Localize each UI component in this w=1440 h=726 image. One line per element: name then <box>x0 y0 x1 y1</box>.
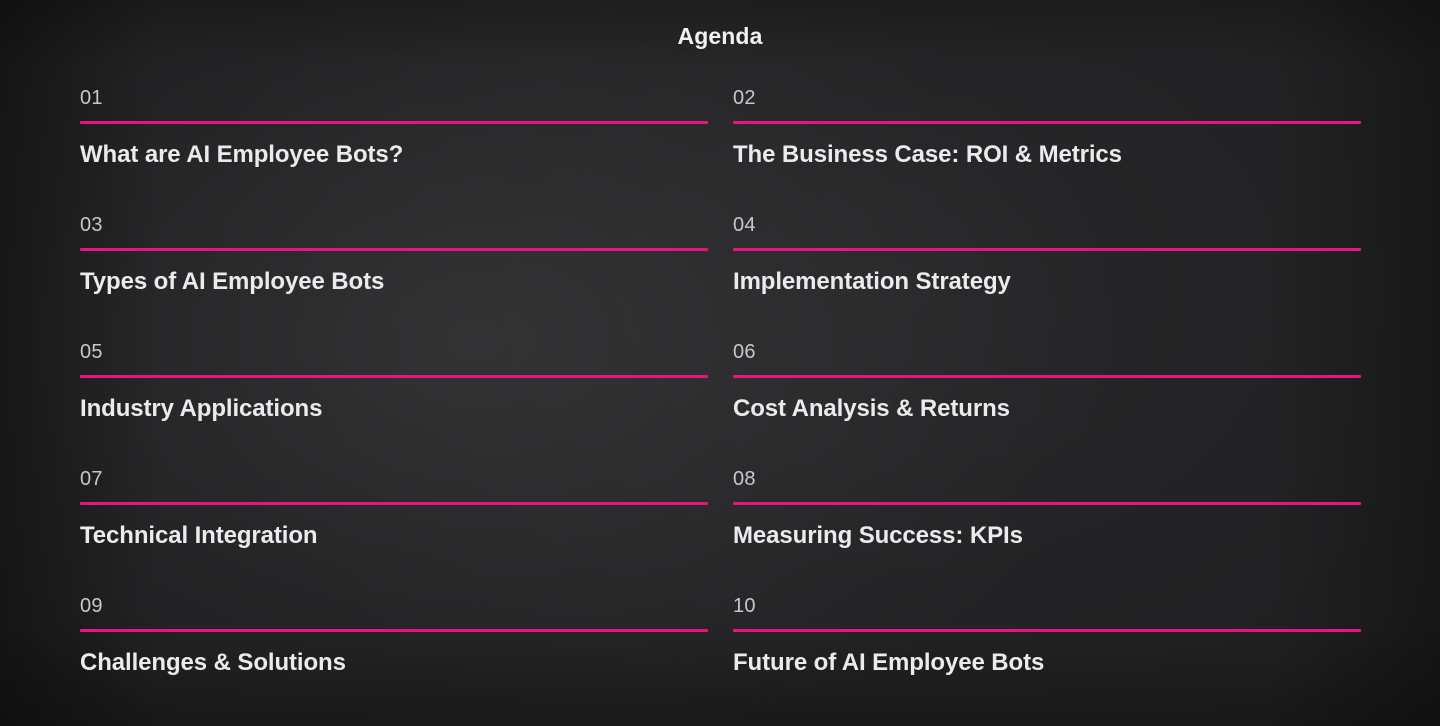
agenda-item-number: 07 <box>80 469 708 502</box>
agenda-item-06[interactable]: 06 Cost Analysis & Returns <box>733 339 1361 466</box>
agenda-item-02[interactable]: 02 The Business Case: ROI & Metrics <box>733 85 1361 212</box>
agenda-item-number: 03 <box>80 215 708 248</box>
agenda-item-number: 05 <box>80 342 708 375</box>
agenda-item-title: Implementation Strategy <box>733 251 1361 295</box>
agenda-item-title: What are AI Employee Bots? <box>80 124 708 168</box>
agenda-slide: Agenda 01 What are AI Employee Bots? 02 … <box>0 0 1440 726</box>
page-title: Agenda <box>0 0 1440 50</box>
agenda-item-07[interactable]: 07 Technical Integration <box>80 466 708 593</box>
agenda-item-title: The Business Case: ROI & Metrics <box>733 124 1361 168</box>
agenda-item-01[interactable]: 01 What are AI Employee Bots? <box>80 85 708 212</box>
agenda-item-title: Industry Applications <box>80 378 708 422</box>
agenda-item-10[interactable]: 10 Future of AI Employee Bots <box>733 593 1361 720</box>
agenda-item-number: 01 <box>80 88 708 121</box>
agenda-item-title: Future of AI Employee Bots <box>733 632 1361 676</box>
agenda-item-title: Cost Analysis & Returns <box>733 378 1361 422</box>
agenda-list: 01 What are AI Employee Bots? 02 The Bus… <box>0 85 1440 720</box>
agenda-item-title: Challenges & Solutions <box>80 632 708 676</box>
agenda-item-number: 06 <box>733 342 1361 375</box>
agenda-item-number: 10 <box>733 596 1361 629</box>
agenda-item-title: Measuring Success: KPIs <box>733 505 1361 549</box>
agenda-item-number: 02 <box>733 88 1361 121</box>
agenda-item-number: 08 <box>733 469 1361 502</box>
agenda-item-number: 09 <box>80 596 708 629</box>
agenda-item-09[interactable]: 09 Challenges & Solutions <box>80 593 708 720</box>
agenda-item-title: Technical Integration <box>80 505 708 549</box>
agenda-item-05[interactable]: 05 Industry Applications <box>80 339 708 466</box>
agenda-item-03[interactable]: 03 Types of AI Employee Bots <box>80 212 708 339</box>
agenda-item-08[interactable]: 08 Measuring Success: KPIs <box>733 466 1361 593</box>
agenda-item-title: Types of AI Employee Bots <box>80 251 708 295</box>
agenda-item-number: 04 <box>733 215 1361 248</box>
agenda-item-04[interactable]: 04 Implementation Strategy <box>733 212 1361 339</box>
